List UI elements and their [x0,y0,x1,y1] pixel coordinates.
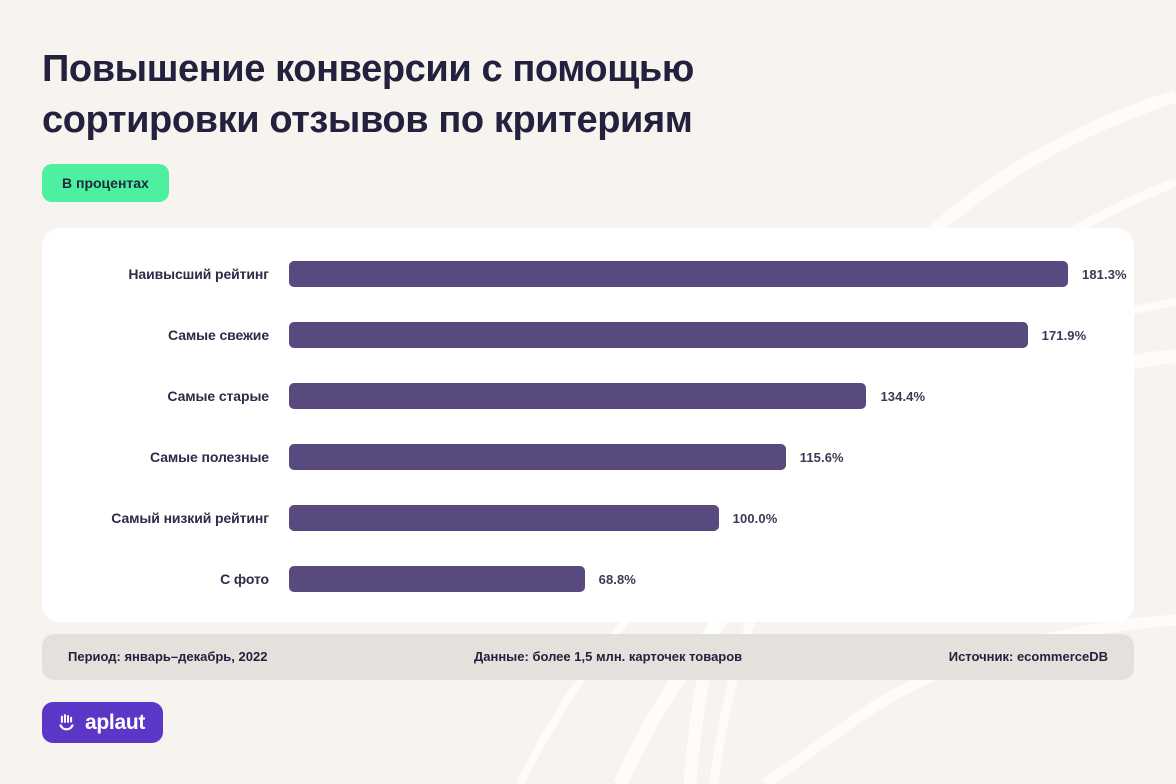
bar-fill [289,322,1028,348]
logo-row: aplaut [42,702,1134,743]
bar-fill [289,261,1068,287]
chart-footnote-bar: Период: январь–декабрь, 2022 Данные: бол… [42,634,1134,680]
bar-value-label: 100.0% [733,511,778,526]
bar-track: 115.6% [289,444,1092,470]
bar-row: Самые полезные 115.6% [84,444,1092,470]
bar-category-label: Самый низкий рейтинг [84,510,289,526]
bar-track: 171.9% [289,322,1092,348]
bar-fill [289,444,786,470]
horizontal-bar-chart: Наивысший рейтинг 181.3% Самые свежие 17… [84,261,1092,592]
bar-track: 134.4% [289,383,1092,409]
bar-value-label: 134.4% [880,389,925,404]
bar-row: Самый низкий рейтинг 100.0% [84,505,1092,531]
bar-value-label: 171.9% [1042,328,1087,343]
bar-category-label: Самые старые [84,388,289,404]
hand-clap-icon [56,712,77,733]
bar-row: Наивысший рейтинг 181.3% [84,261,1092,287]
bar-category-label: Наивысший рейтинг [84,266,289,282]
bar-row: Самые свежие 171.9% [84,322,1092,348]
bar-category-label: Самые свежие [84,327,289,343]
bar-row: Самые старые 134.4% [84,383,1092,409]
bar-track: 100.0% [289,505,1092,531]
bar-fill [289,383,866,409]
bar-value-label: 181.3% [1082,267,1127,282]
footnote-data: Данные: более 1,5 млн. карточек товаров [267,649,948,664]
page-title: Повышение конверсии с помощью сортировки… [42,0,832,146]
bar-value-label: 115.6% [800,450,844,465]
bar-track: 68.8% [289,566,1092,592]
bar-fill [289,505,719,531]
bar-category-label: С фото [84,571,289,587]
aplaut-logo: aplaut [42,702,163,743]
infographic-page: Повышение конверсии с помощью сортировки… [0,0,1176,784]
footnote-period: Период: январь–декабрь, 2022 [68,649,267,664]
badge-row: В процентах [42,164,1134,202]
footnote-source: Источник: ecommerceDB [949,649,1108,664]
bar-category-label: Самые полезные [84,449,289,465]
logo-wordmark: aplaut [85,712,145,733]
bar-value-label: 68.8% [599,572,636,587]
bar-track: 181.3% [289,261,1092,287]
bar-fill [289,566,585,592]
bar-row: С фото 68.8% [84,566,1092,592]
units-badge: В процентах [42,164,169,202]
chart-card: Наивысший рейтинг 181.3% Самые свежие 17… [42,228,1134,622]
